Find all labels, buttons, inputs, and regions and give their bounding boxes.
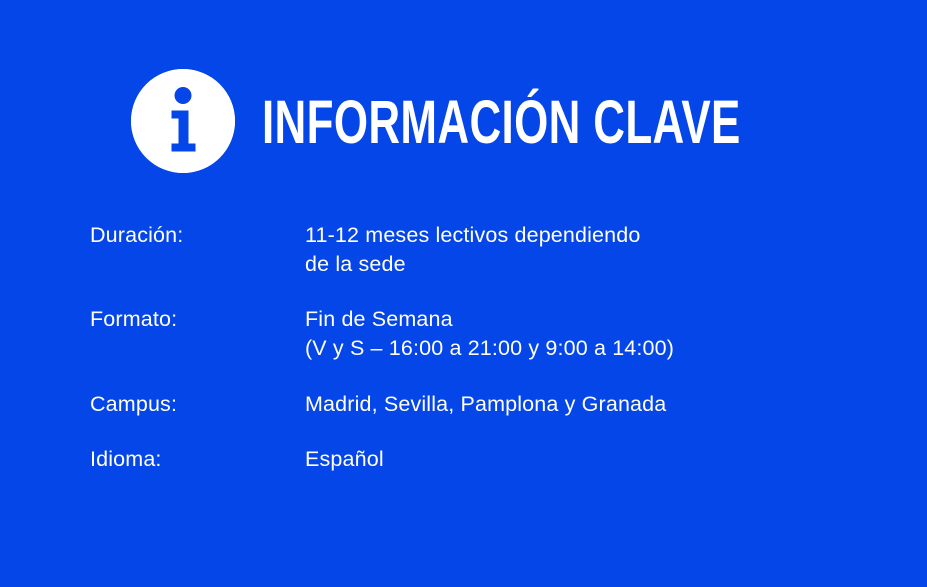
detail-value-line: Español — [305, 445, 850, 474]
slide-header: INFORMACIÓN CLAVE — [131, 69, 927, 173]
detail-value-line: (V y S – 16:00 a 21:00 y 9:00 a 14:00) — [305, 334, 850, 363]
detail-label: Campus: — [90, 390, 305, 419]
detail-label: Duración: — [90, 221, 305, 250]
detail-label: Idioma: — [90, 445, 305, 474]
detail-row-idioma: Idioma: Español — [90, 445, 850, 474]
detail-value: Madrid, Sevilla, Pamplona y Granada — [305, 390, 850, 419]
detail-value-line: 11-12 meses lectivos dependiendo — [305, 221, 850, 250]
detail-row-duracion: Duración: 11-12 meses lectivos dependien… — [90, 221, 850, 279]
detail-label: Formato: — [90, 305, 305, 334]
detail-value: 11-12 meses lectivos dependiendo de la s… — [305, 221, 850, 279]
key-information-list: Duración: 11-12 meses lectivos dependien… — [90, 221, 850, 474]
info-slide: INFORMACIÓN CLAVE Duración: 11-12 meses … — [0, 0, 927, 587]
detail-row-formato: Formato: Fin de Semana (V y S – 16:00 a … — [90, 305, 850, 363]
page-title: INFORMACIÓN CLAVE — [262, 92, 741, 153]
detail-value-line: de la sede — [305, 250, 850, 279]
detail-value-line: Fin de Semana — [305, 305, 850, 334]
detail-row-campus: Campus: Madrid, Sevilla, Pamplona y Gran… — [90, 390, 850, 419]
detail-value: Fin de Semana (V y S – 16:00 a 21:00 y 9… — [305, 305, 850, 363]
detail-value-line: Madrid, Sevilla, Pamplona y Granada — [305, 390, 850, 419]
detail-value: Español — [305, 445, 850, 474]
info-circle-icon — [131, 69, 235, 173]
